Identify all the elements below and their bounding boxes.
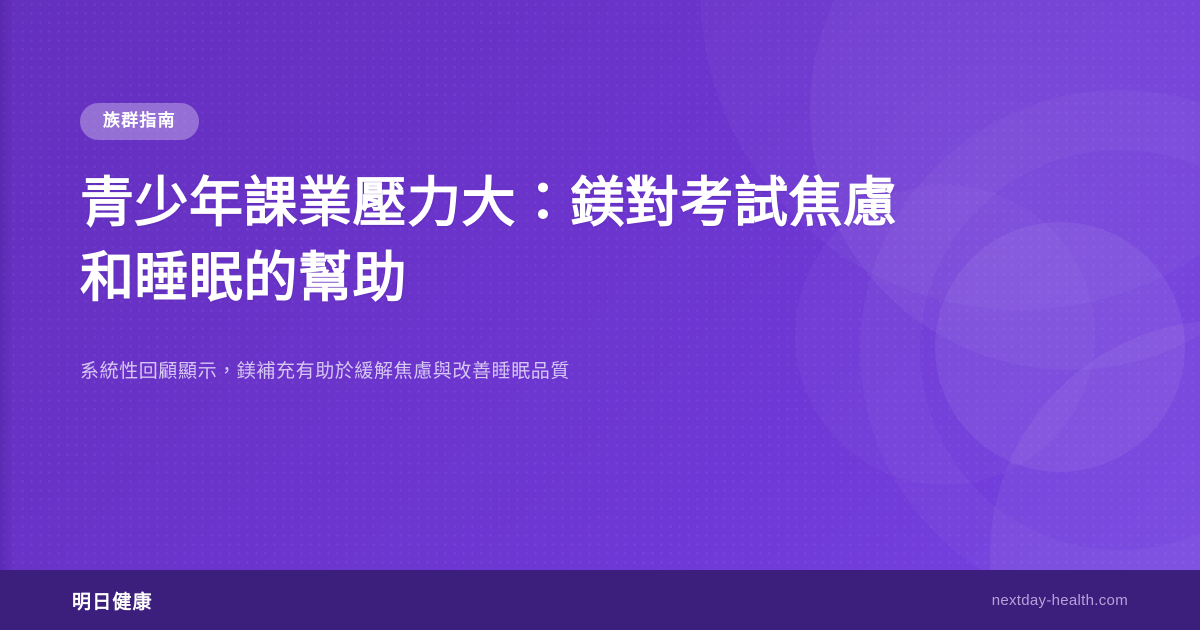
category-badge: 族群指南 bbox=[80, 103, 199, 140]
brand-name: 明日健康 bbox=[72, 587, 153, 614]
page-title: 青少年課業壓力大：鎂對考試焦慮和睡眠的幫助 bbox=[80, 166, 910, 315]
footer-bar: 明日健康 nextday-health.com bbox=[0, 570, 1200, 630]
decorative-circle-center-right bbox=[935, 222, 1185, 472]
social-share-card: 族群指南 青少年課業壓力大：鎂對考試焦慮和睡眠的幫助 系統性回顧顯示，鎂補充有助… bbox=[0, 0, 1200, 630]
left-edge-shadow bbox=[0, 0, 14, 630]
site-url: nextday-health.com bbox=[992, 592, 1128, 609]
card-content: 族群指南 青少年課業壓力大：鎂對考試焦慮和睡眠的幫助 系統性回顧顯示，鎂補充有助… bbox=[80, 0, 960, 387]
page-subtitle: 系統性回顧顯示，鎂補充有助於緩解焦慮與改善睡眠品質 bbox=[80, 357, 880, 387]
